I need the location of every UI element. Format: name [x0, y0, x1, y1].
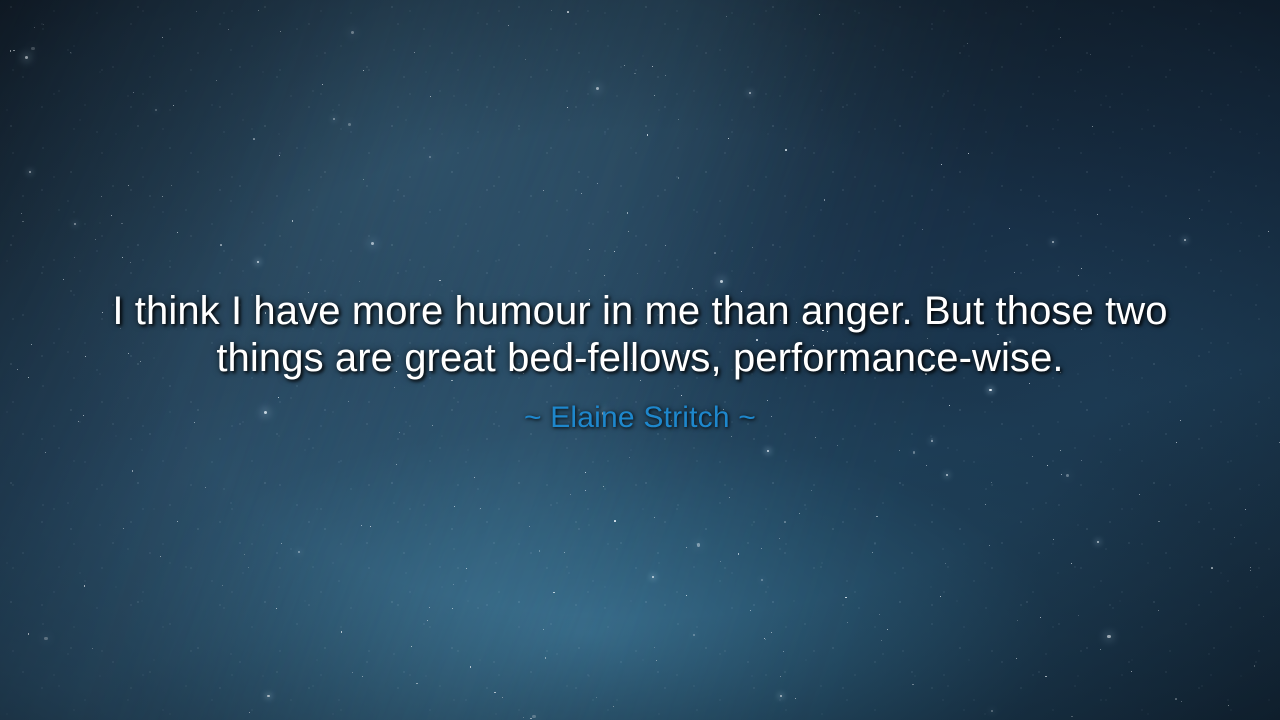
- quote-author: ~ Elaine Stritch ~: [54, 400, 1226, 436]
- quote-block: I think I have more humour in me than an…: [0, 288, 1280, 436]
- quote-wallpaper-canvas: I think I have more humour in me than an…: [0, 0, 1280, 720]
- quote-text: I think I have more humour in me than an…: [98, 288, 1183, 382]
